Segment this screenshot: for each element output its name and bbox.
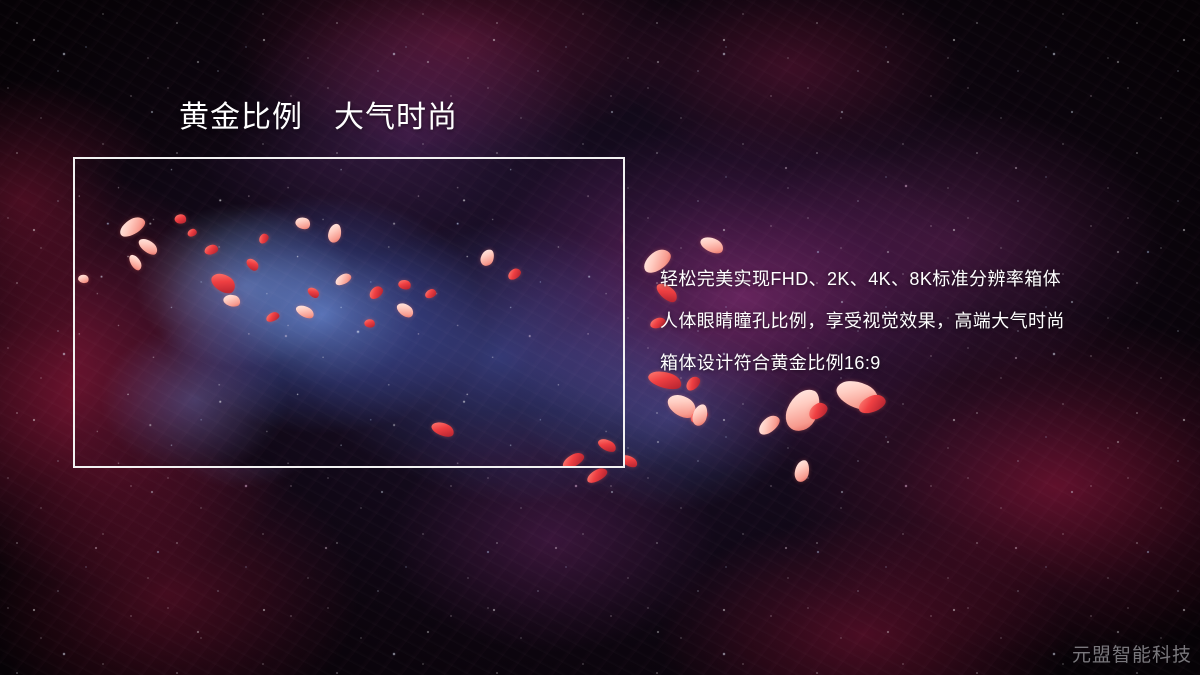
rose-petal [204, 244, 219, 256]
rose-petal [585, 466, 610, 486]
rose-petal [363, 318, 375, 329]
rose-petal [367, 284, 385, 301]
rose-petal [327, 223, 342, 244]
rose-petal [77, 273, 90, 284]
rose-petal [506, 267, 523, 282]
rose-petal [174, 213, 187, 225]
rose-petal [222, 292, 242, 308]
rose-petal [294, 302, 316, 321]
rose-petal [781, 384, 825, 436]
rose-petal [430, 419, 456, 440]
rose-petal [117, 214, 148, 240]
rose-petal [265, 311, 281, 324]
crop-starfield-fine [73, 157, 625, 468]
crop-scene [73, 157, 625, 468]
page-title: 黄金比例 大气时尚 [179, 101, 458, 136]
rose-petal [806, 400, 830, 422]
feature-line-1: 轻松完美实现FHD、2K、4K、8K标准分辨率箱体 [660, 258, 1180, 300]
slide-canvas: 黄金比例 大气时尚 轻松完美实现FHD、2K、4K、8K标准分辨率箱体 人体眼睛… [0, 0, 1200, 675]
rose-petal [208, 269, 239, 298]
rose-petal [560, 450, 586, 468]
rose-petal [688, 407, 709, 425]
rose-petal [187, 228, 198, 238]
rose-petal [294, 215, 312, 232]
feature-line-3: 箱体设计符合黄金比例16:9 [660, 342, 1180, 384]
rose-petal [424, 288, 438, 300]
crop-nebula-blue-core-layer [73, 157, 625, 468]
rose-petal [794, 459, 811, 483]
rose-petal [479, 248, 496, 268]
rose-petal [306, 285, 321, 300]
rose-petal [334, 272, 353, 288]
crop-background-base [73, 157, 625, 468]
crop-starfield-mid [73, 157, 625, 468]
rose-petal [127, 253, 143, 272]
rose-petal [856, 392, 888, 416]
rose-petal [691, 403, 709, 427]
rose-petal [618, 217, 625, 250]
rose-petal [755, 412, 783, 437]
rose-petal [698, 233, 726, 257]
rose-petal [395, 300, 416, 321]
brand-watermark: 元盟智能科技 [1072, 640, 1192, 667]
rose-petal [257, 232, 271, 245]
crop-frame-contents [73, 157, 625, 468]
golden-ratio-crop-frame [73, 157, 625, 468]
crop-nebula-wisp-texture [73, 157, 625, 468]
crop-nebula-magenta-layer [73, 157, 625, 468]
rose-petal [664, 389, 700, 423]
rose-petal [397, 278, 412, 291]
feature-line-2: 人体眼睛瞳孔比例，享受视觉效果，高端大气时尚 [660, 300, 1180, 342]
rose-petal [245, 256, 261, 273]
feature-description-block: 轻松完美实现FHD、2K、4K、8K标准分辨率箱体 人体眼睛瞳孔比例，享受视觉效… [660, 258, 1180, 384]
crop-nebula-crimson-layer [73, 157, 625, 468]
rose-petal [136, 235, 160, 258]
crop-starfield-bright [73, 157, 625, 468]
crop-rose-petal-layer [73, 157, 625, 468]
rose-petal [596, 436, 618, 455]
